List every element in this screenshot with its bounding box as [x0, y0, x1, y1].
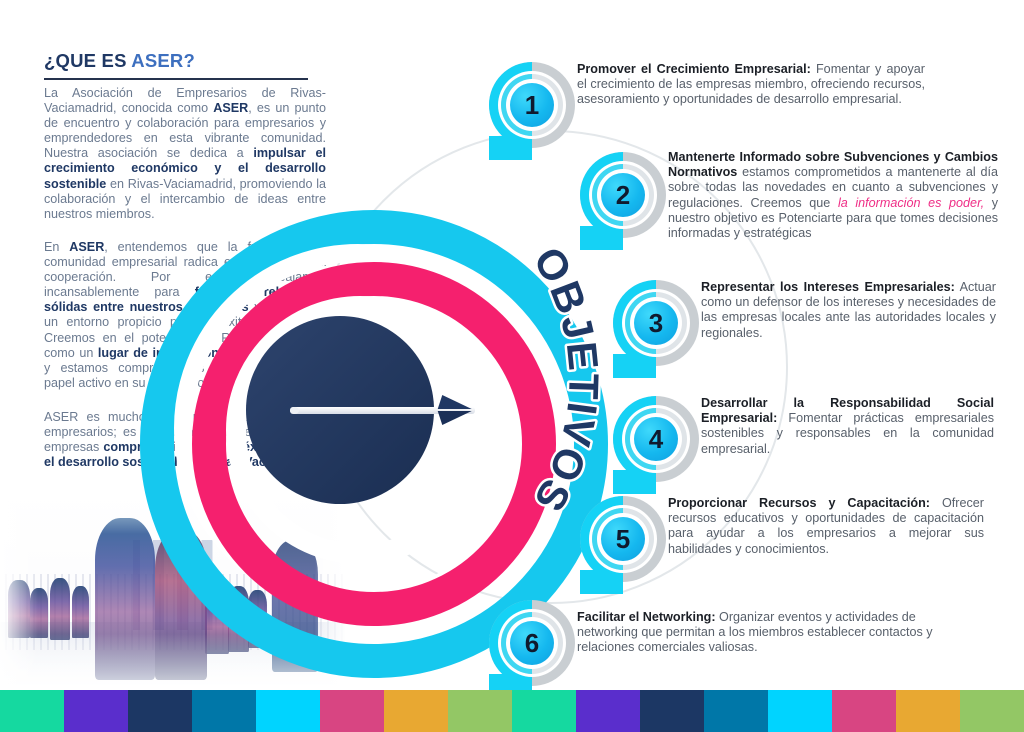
badge-outer-tab: [580, 570, 623, 594]
arrow-tip: [290, 407, 299, 414]
arrow-fletching-top: [438, 395, 477, 409]
photo-haze-left: [0, 490, 38, 690]
color-swatch: [512, 690, 576, 732]
page-title-text: ¿QUE ES ASER?: [44, 50, 312, 72]
objective-description-5: Proporcionar Recursos y Capacitación: Of…: [668, 496, 984, 557]
badge-inner-circle: 1: [510, 83, 554, 127]
color-swatch: [896, 690, 960, 732]
color-swatch: [64, 690, 128, 732]
color-swatch: [640, 690, 704, 732]
page-title-main: ¿QUE ES: [44, 50, 131, 71]
objective-number: 5: [616, 526, 630, 552]
objective-badge-3[interactable]: 3: [613, 280, 699, 366]
page-title: ¿QUE ES ASER?: [44, 50, 312, 72]
color-swatch: [448, 690, 512, 732]
badge-outer-tab: [489, 136, 532, 160]
page-title-accent: ASER?: [131, 50, 195, 71]
color-swatch: [704, 690, 768, 732]
footer-color-bar: [0, 690, 1024, 732]
objective-description-3: Representar los Intereses Empresariales:…: [701, 280, 996, 341]
badge-outer-tab: [613, 470, 656, 494]
arrow-fletching-bottom: [438, 411, 477, 425]
objective-number: 6: [525, 630, 539, 656]
badge-inner-circle: 2: [601, 173, 645, 217]
color-swatch: [832, 690, 896, 732]
color-swatch: [960, 690, 1024, 732]
color-swatch: [768, 690, 832, 732]
objective-number: 2: [616, 182, 630, 208]
badge-inner-circle: 5: [601, 517, 645, 561]
objective-badge-4[interactable]: 4: [613, 396, 699, 482]
color-swatch: [256, 690, 320, 732]
color-swatch: [0, 690, 64, 732]
color-swatch: [384, 690, 448, 732]
objective-number: 4: [649, 426, 663, 452]
intro-paragraph-1: La Asociación de Empresarios de Rivas-Va…: [44, 86, 326, 222]
color-swatch: [128, 690, 192, 732]
color-swatch: [192, 690, 256, 732]
objective-description-4: Desarrollar la Responsabilidad Social Em…: [701, 396, 994, 457]
badge-inner-circle: 4: [634, 417, 678, 461]
badge-inner-circle: 6: [510, 621, 554, 665]
bullseye: [140, 210, 540, 610]
objective-description-2: Mantenerte Informado sobre Subvenciones …: [668, 150, 998, 241]
objective-description-6: Facilitar el Networking: Organizar event…: [577, 610, 957, 656]
objective-badge-5[interactable]: 5: [580, 496, 666, 582]
objective-number: 3: [649, 310, 663, 336]
badge-inner-circle: 3: [634, 301, 678, 345]
title-divider: [44, 78, 308, 80]
color-swatch: [320, 690, 384, 732]
color-swatch: [576, 690, 640, 732]
badge-outer-tab: [613, 354, 656, 378]
objective-badge-6[interactable]: 6: [489, 600, 575, 686]
badge-outer-tab: [580, 226, 623, 250]
arrow-icon: [290, 398, 500, 422]
objective-badge-2[interactable]: 2: [580, 152, 666, 238]
objective-badge-1[interactable]: 1: [489, 62, 575, 148]
infographic-page: ¿QUE ES ASER? La Asociación de Empresari…: [0, 0, 1024, 732]
objective-description-1: Promover el Crecimiento Empresarial: Fom…: [577, 62, 925, 108]
objective-number: 1: [525, 92, 539, 118]
